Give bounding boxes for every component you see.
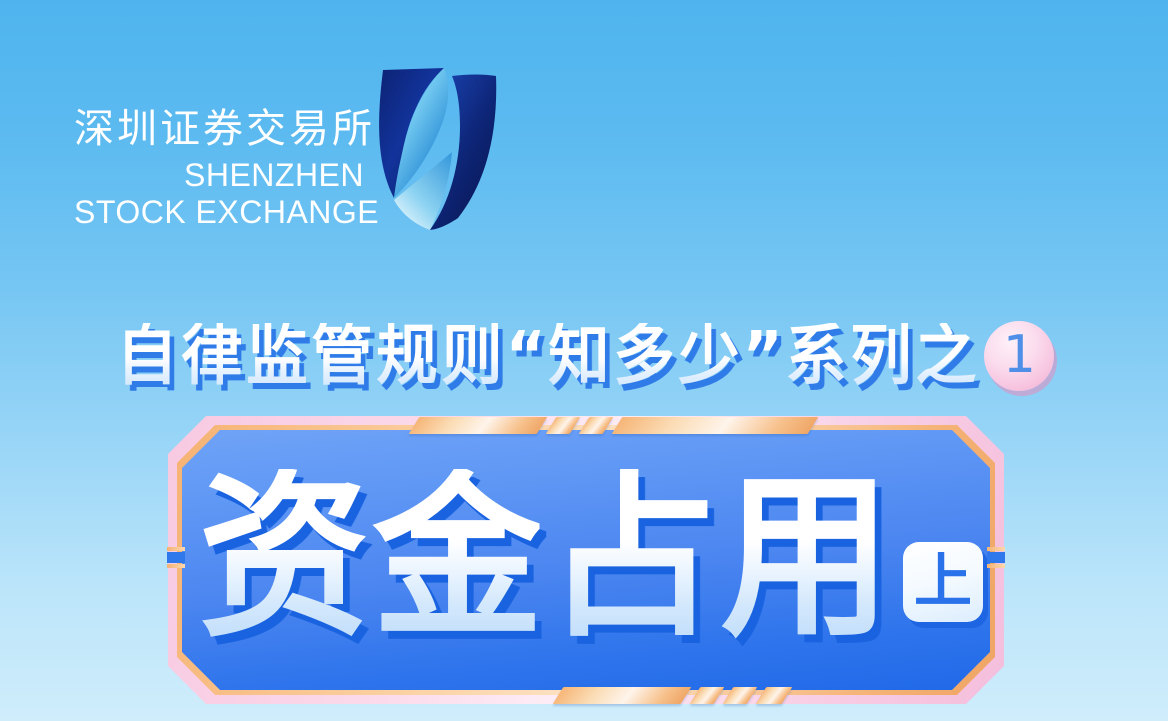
series-heading-char: 律 xyxy=(181,323,241,389)
series-heading-char: 管 xyxy=(311,323,371,389)
plaque-right-notch-bar xyxy=(987,564,1005,568)
logo-name-english-line1: SHENZHEN xyxy=(74,157,364,193)
plaque-right-notch-bar xyxy=(987,547,1005,551)
main-title-char: 资 xyxy=(198,469,365,647)
series-heading-quote-close: ” xyxy=(742,323,781,389)
main-title-char: 金 xyxy=(372,469,539,647)
series-heading-char: 少 xyxy=(678,323,738,389)
plaque-left-notch-bar xyxy=(167,564,185,568)
main-title-plaque: 资 金 占 用 上 xyxy=(168,416,1004,704)
logo-name-english-line2: STOCK EXCHANGE xyxy=(74,194,364,230)
szse-leaf-icon xyxy=(372,52,502,238)
series-heading-char: 多 xyxy=(613,323,673,389)
part-badge: 上 xyxy=(903,542,983,622)
part-badge-label: 上 xyxy=(914,552,972,610)
logo-name-chinese: 深圳证券交易所 xyxy=(74,108,364,151)
series-heading-char: 则 xyxy=(441,323,501,389)
plaque-right-notch xyxy=(987,552,1005,563)
series-heading: 自 律 监 管 规 则 “ 知 多 少 ” 系 列 之 1 xyxy=(0,306,1168,406)
main-title-char: 用 xyxy=(720,469,887,647)
main-title: 资 金 占 用 上 xyxy=(168,416,1004,704)
series-heading-char: 之 xyxy=(916,323,976,389)
series-number-badge: 1 xyxy=(984,321,1054,391)
logo-text: 深圳证券交易所 SHENZHEN STOCK EXCHANGE xyxy=(74,52,364,230)
main-title-char: 占 xyxy=(546,469,713,647)
series-heading-char: 列 xyxy=(851,323,911,389)
series-number-value: 1 xyxy=(1003,329,1036,381)
series-heading-quote-open: “ xyxy=(505,323,544,389)
plaque-left-notch-bar xyxy=(167,547,185,551)
series-heading-char: 系 xyxy=(786,323,846,389)
series-heading-char: 监 xyxy=(246,323,306,389)
series-heading-char: 自 xyxy=(116,323,176,389)
plaque-left-notch xyxy=(167,552,185,563)
series-heading-char: 知 xyxy=(548,323,608,389)
poster-canvas: 深圳证券交易所 SHENZHEN STOCK EXCHANGE xyxy=(0,0,1168,721)
series-heading-char: 规 xyxy=(376,323,436,389)
szse-logo: 深圳证券交易所 SHENZHEN STOCK EXCHANGE xyxy=(74,52,494,242)
